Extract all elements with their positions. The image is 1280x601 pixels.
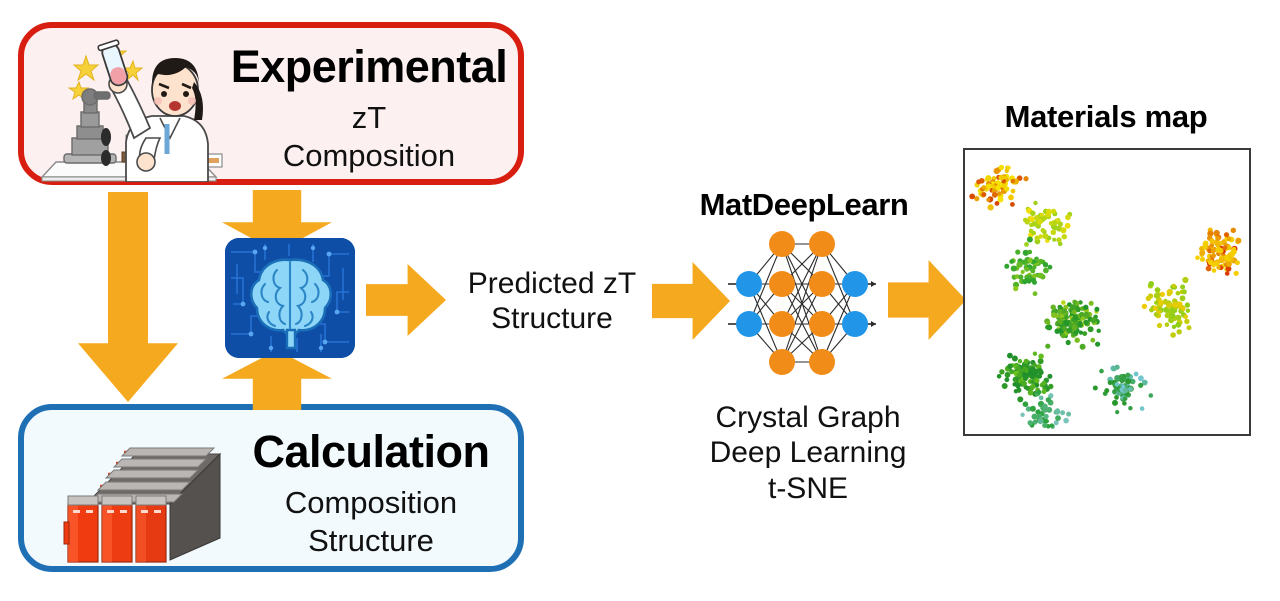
calculation-stage-box: Calculation Composition Structure	[18, 404, 524, 572]
experimental-line-zt: zT	[352, 99, 386, 137]
model-method-tsne: t-SNE	[768, 471, 848, 506]
figure-root: Experimental zT Composition	[0, 0, 1280, 601]
experimental-title: Experimental	[231, 41, 508, 93]
prediction-text-group: Predicted zT Structure	[444, 262, 660, 340]
calculation-text-group: Calculation Composition Structure	[224, 418, 518, 568]
prediction-line-1: Predicted zT	[468, 266, 636, 301]
model-title: MatDeepLearn	[660, 186, 948, 224]
model-method-crystal-graph: Crystal Graph	[715, 400, 900, 435]
arrow-ai-to-prediction	[366, 264, 446, 336]
prediction-line-2: Structure	[491, 301, 613, 336]
neural-network-diagram	[724, 228, 880, 378]
tsne-scatter-canvas	[965, 150, 1249, 434]
ai-brain-chip	[225, 238, 355, 358]
calculation-line-composition: Composition	[285, 484, 457, 522]
model-methods-group: Crystal Graph Deep Learning t-SNE	[668, 392, 948, 514]
arrow-model-to-map	[888, 260, 966, 340]
experimental-line-composition: Composition	[283, 137, 455, 175]
arrow-prediction-to-model	[652, 262, 730, 340]
calculation-title: Calculation	[252, 426, 489, 478]
arrow-calculation-to-ai	[222, 350, 332, 410]
model-method-deep-learning: Deep Learning	[710, 435, 907, 470]
experimental-stage-box: Experimental zT Composition	[18, 22, 524, 185]
scientist-illustration-icon	[34, 34, 224, 182]
materials-map-plot	[963, 148, 1251, 436]
arrow-experimental-to-calculation	[78, 192, 178, 402]
calculation-line-structure: Structure	[308, 522, 434, 560]
materials-map-title: Materials map	[958, 98, 1254, 136]
server-rack-illustration-icon	[50, 418, 228, 568]
brain-circuit-icon	[225, 238, 355, 358]
experimental-text-group: Experimental zT Composition	[220, 34, 518, 182]
